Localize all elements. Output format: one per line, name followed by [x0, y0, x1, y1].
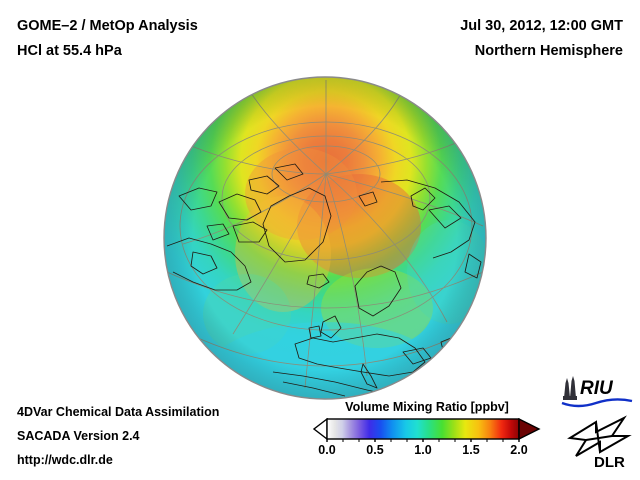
colorbar-title: Volume Mixing Ratio [ppbv] — [313, 400, 541, 414]
coastline-aral-sea — [461, 320, 481, 334]
version-label: SACADA Version 2.4 — [17, 424, 219, 448]
globe-svg — [163, 76, 487, 400]
colorbar-over-range-cap — [519, 419, 539, 439]
colorbar-tick-label-2: 1.0 — [414, 443, 431, 457]
colorbar-under-range-cap — [314, 419, 327, 439]
colorbar-ramp — [327, 419, 519, 439]
species-level-title: HCl at 55.4 hPa — [17, 39, 198, 64]
riu-spires-icon — [563, 376, 577, 400]
riu-wave-icon — [562, 399, 632, 406]
limb-shading — [164, 77, 486, 399]
colorbar-tick-label-3: 1.5 — [462, 443, 479, 457]
colorbar-graphic — [313, 418, 541, 442]
colorbar-tick-label-0: 0.0 — [318, 443, 335, 457]
colorbar-tick-label-1: 0.5 — [366, 443, 383, 457]
website-url[interactable]: http://wdc.dlr.de — [17, 448, 219, 472]
colorbar-tick-labels: 0.0 0.5 1.0 1.5 2.0 — [313, 443, 541, 461]
riu-logo: RIU — [560, 374, 634, 408]
dlr-wordmark: DLR — [594, 454, 625, 470]
riu-wordmark: RIU — [580, 378, 614, 399]
dlr-logo: DLR — [566, 412, 632, 470]
header-left: GOME–2 / MetOp Analysis HCl at 55.4 hPa — [17, 14, 198, 64]
colorbar-tick-label-4: 2.0 — [510, 443, 527, 457]
coastline-arabia — [415, 372, 461, 398]
dlr-mark-icon — [570, 418, 628, 456]
colorbar: Volume Mixing Ratio [ppbv] — [313, 400, 541, 461]
timestamp-label: Jul 30, 2012, 12:00 GMT — [460, 14, 623, 39]
assimilation-label: 4DVar Chemical Data Assimilation — [17, 400, 219, 424]
header-right: Jul 30, 2012, 12:00 GMT Northern Hemisph… — [460, 14, 623, 64]
visualization-page: GOME–2 / MetOp Analysis HCl at 55.4 hPa … — [0, 0, 640, 480]
globe-map — [163, 76, 487, 400]
footer-credits: 4DVar Chemical Data Assimilation SACADA … — [17, 400, 219, 472]
hemisphere-label: Northern Hemisphere — [460, 39, 623, 64]
instrument-title: GOME–2 / MetOp Analysis — [17, 14, 198, 39]
